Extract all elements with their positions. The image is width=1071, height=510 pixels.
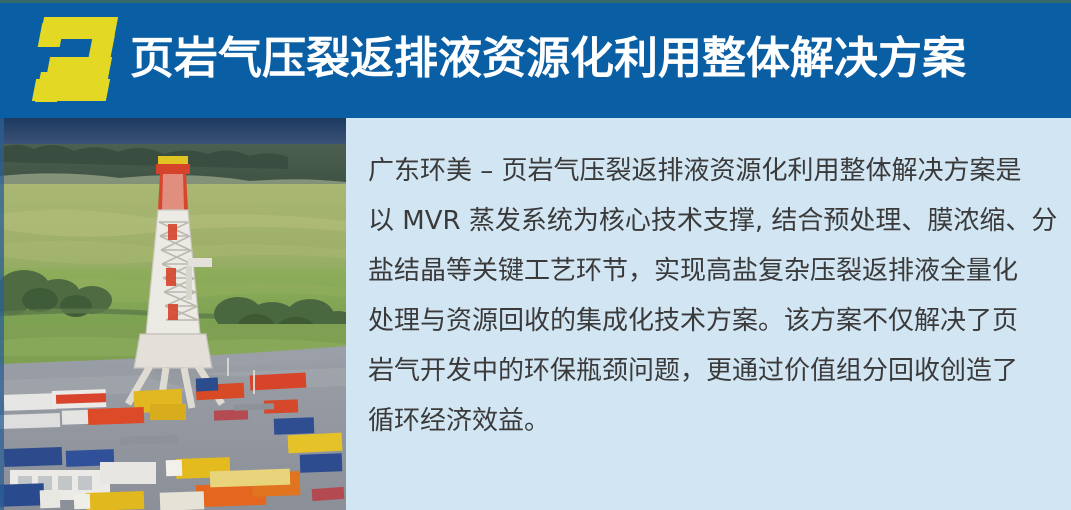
description-line: 广东环美 – 页岩气压裂返排液资源化利用整体解决方案是 xyxy=(368,146,1058,196)
solution-description: 广东环美 – 页岩气压裂返排液资源化利用整体解决方案是 以 MVR 蒸发系统为核… xyxy=(368,146,1058,446)
drilling-rig-photo xyxy=(0,118,346,510)
description-line: 盐结晶等关键工艺环节，实现高盐复杂压裂返排液全量化 xyxy=(368,246,1058,296)
section-title: 页岩气压裂返排液资源化利用整体解决方案 xyxy=(130,37,966,81)
description-line: 处理与资源回收的集成化技术方案。该方案不仅解决了页 xyxy=(368,296,1058,346)
solution-section-page: 页岩气压裂返排液资源化利用整体解决方案 xyxy=(0,0,1071,510)
banner-content: 页岩气压裂返排液资源化利用整体解决方案 xyxy=(34,0,966,118)
stylized-numeral-two-icon xyxy=(34,17,116,101)
description-panel: 广东环美 – 页岩气压裂返排液资源化利用整体解决方案是 以 MVR 蒸发系统为核… xyxy=(346,118,1071,510)
description-line: 循环经济效益。 xyxy=(368,396,1058,446)
photo-left-edge-strip xyxy=(0,118,4,510)
description-line: 以 MVR 蒸发系统为核心技术支撑, 结合预处理、膜浓缩、分 xyxy=(368,196,1058,246)
section-banner: 页岩气压裂返排液资源化利用整体解决方案 xyxy=(0,0,1071,118)
description-line: 岩气开发中的环保瓶颈问题，更通过价值组分回收创造了 xyxy=(368,346,1058,396)
drilling-rig-illustration xyxy=(0,118,346,510)
